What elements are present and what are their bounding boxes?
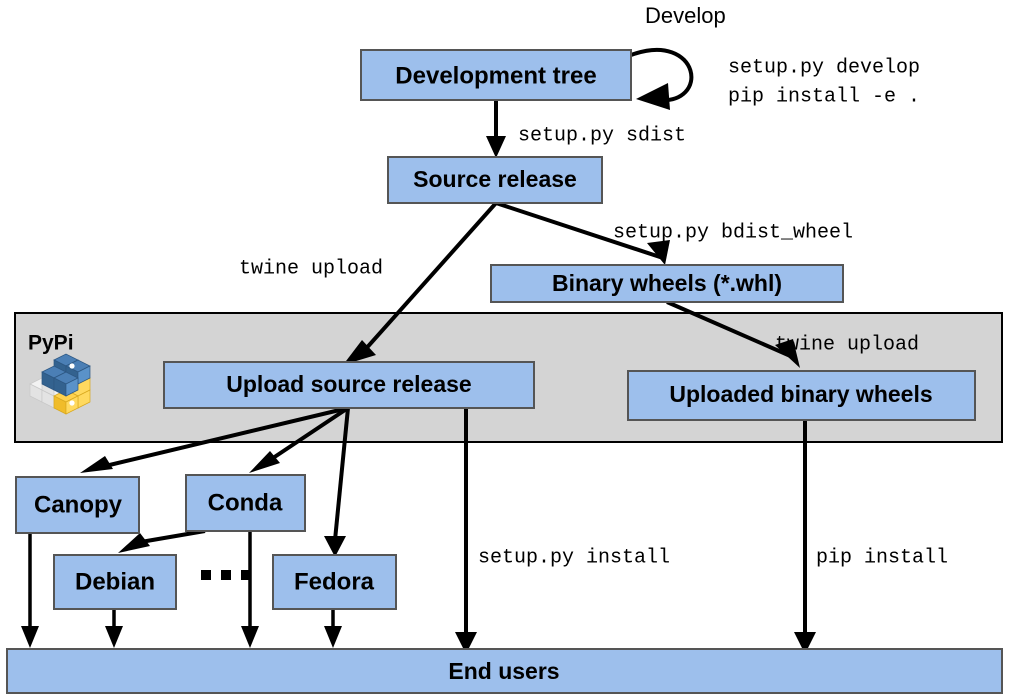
edge-conda-to-debian-arrowhead [118, 533, 150, 553]
node-binary-wheels[interactable]: Binary wheels (*.whl) [491, 265, 843, 302]
edge-conda-to-endusers-arrowhead [241, 626, 259, 648]
node-debian[interactable]: Debian [54, 555, 176, 609]
edge-label-pip-install-editable: pip install -e . [728, 85, 920, 108]
edge-label-setup-py-install: setup.py install [478, 546, 670, 569]
node-binary-wheels-label: Binary wheels (*.whl) [552, 270, 782, 296]
node-end-users-label: End users [448, 658, 559, 684]
node-development-tree[interactable]: Development tree [361, 50, 631, 100]
edge-label-develop: Develop [645, 3, 726, 28]
node-end-users[interactable]: End users [7, 649, 1002, 693]
edge-debian-to-endusers-arrowhead [105, 626, 123, 648]
horizontal-ellipsis-icon [201, 570, 251, 580]
edge-canopy-to-endusers-arrowhead [21, 626, 39, 648]
pypi-group-title: PyPi [28, 332, 74, 355]
edge-devtree-to-source-arrowhead [486, 136, 506, 158]
node-source-release-label: Source release [413, 166, 577, 192]
node-fedora-label: Fedora [294, 568, 375, 595]
node-uploaded-binary-wheels-label: Uploaded binary wheels [669, 381, 932, 407]
node-fedora[interactable]: Fedora [273, 555, 396, 609]
edge-label-setup-py-develop: setup.py develop [728, 56, 920, 79]
node-canopy[interactable]: Canopy [16, 477, 139, 533]
edge-label-twine-upload-source: twine upload [239, 257, 383, 280]
edge-label-setup-py-bdist-wheel: setup.py bdist_wheel [613, 221, 853, 244]
node-upload-source-release-label: Upload source release [226, 371, 471, 397]
edge-upload-to-fedora-arrowhead [324, 536, 346, 557]
packaging-flow-diagram: Development tree Source release Binary w… [0, 0, 1009, 698]
node-development-tree-label: Development tree [395, 62, 596, 89]
edge-label-setup-py-sdist: setup.py sdist [518, 124, 686, 147]
node-uploaded-binary-wheels[interactable]: Uploaded binary wheels [628, 371, 975, 420]
edge-label-pip-install: pip install [816, 546, 948, 569]
edge-fedora-to-endusers-arrowhead [324, 626, 342, 648]
node-source-release[interactable]: Source release [388, 157, 602, 203]
edge-upload-to-canopy-arrowhead [80, 456, 113, 473]
edge-label-twine-upload-wheels: twine upload [775, 333, 919, 356]
diagram-canvas: Development tree Source release Binary w… [0, 0, 1009, 698]
node-conda[interactable]: Conda [186, 475, 305, 531]
node-canopy-label: Canopy [34, 491, 123, 518]
node-conda-label: Conda [208, 489, 283, 516]
edge-develop-loop-arrowhead [636, 83, 670, 110]
node-debian-label: Debian [75, 568, 155, 595]
node-upload-source-release[interactable]: Upload source release [164, 362, 534, 408]
